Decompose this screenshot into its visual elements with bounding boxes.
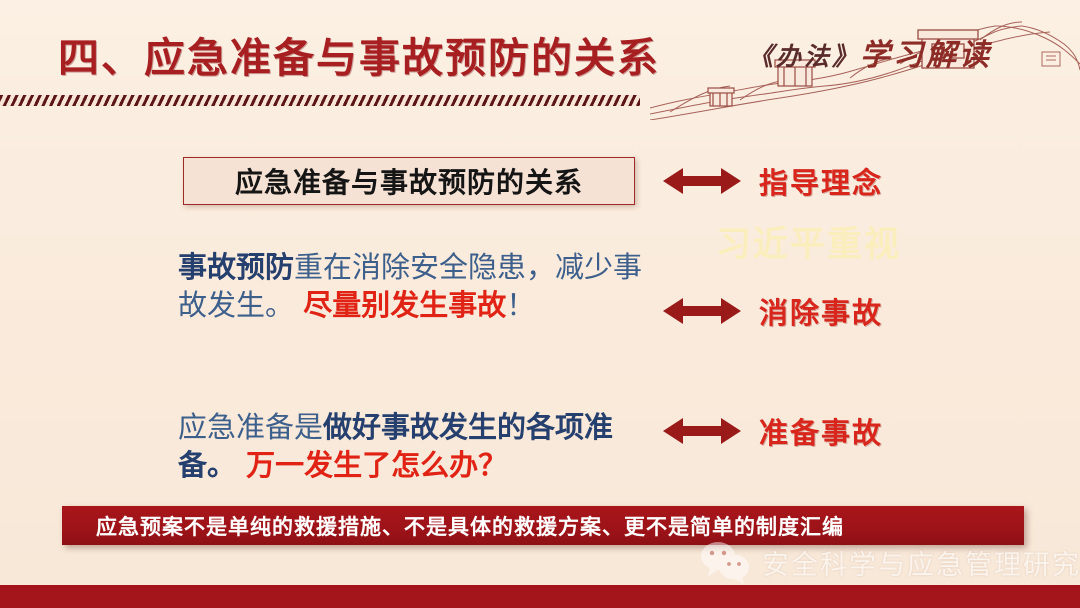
faint-watermark: 习近平重视 bbox=[716, 216, 901, 267]
para3-seg1: 做好事故发生的各项 bbox=[323, 410, 584, 444]
double-arrow-icon bbox=[663, 415, 741, 447]
slide-canvas: 四、应急准备与事故预防的关系 bbox=[0, 0, 1080, 608]
para2-seg3: 尽量别发生事故 bbox=[303, 288, 506, 322]
wechat-watermark: 安全科学与应急管理研究 bbox=[700, 540, 1080, 584]
para2-seg1: 重在消除安全隐患，减 bbox=[294, 250, 584, 284]
wechat-icon bbox=[700, 540, 752, 584]
series-stamp-text: 学习解读 bbox=[860, 38, 992, 73]
para3-seg0: 应急准备是 bbox=[178, 410, 323, 444]
bottom-banner-text: 应急预案不是单纯的救援措施、不是具体的救援方案、更不是简单的制度汇编 bbox=[96, 511, 844, 541]
concept-box: 应急准备与事故预防的关系 bbox=[183, 157, 635, 205]
para3-seg3: 万一发生了怎么办？ bbox=[246, 448, 507, 482]
hatch-divider bbox=[0, 95, 640, 106]
series-stamp-book: 《办法》 bbox=[748, 42, 860, 71]
double-arrow-icon bbox=[663, 295, 741, 327]
series-stamp: 《办法》学习解读 bbox=[748, 30, 992, 74]
bottom-bar bbox=[0, 585, 1080, 608]
row-preparation-right-label: 准备事故 bbox=[759, 410, 883, 452]
row-prevention-arrow-group: 消除事故 bbox=[663, 290, 883, 332]
row-concept-arrow-group: 指导理念 bbox=[663, 160, 883, 202]
double-arrow-icon bbox=[663, 165, 741, 197]
paragraph-preparation: 应急准备是做好事故发生的各项准备。 万一发生了怎么办？ bbox=[178, 408, 648, 485]
row-concept-right-label: 指导理念 bbox=[759, 160, 883, 202]
page-title: 四、应急准备与事故预防的关系 bbox=[58, 24, 660, 84]
paragraph-prevention: 事故预防重在消除安全隐患，减少事故发生。 尽量别发生事故！ bbox=[178, 248, 648, 325]
wechat-watermark-text: 安全科学与应急管理研究 bbox=[762, 543, 1080, 582]
para2-seg0: 事故预防 bbox=[178, 250, 294, 284]
row-preparation-arrow-group: 准备事故 bbox=[663, 410, 883, 452]
slide-header: 四、应急准备与事故预防的关系 bbox=[0, 0, 1080, 112]
para2-seg4: ！ bbox=[506, 288, 535, 322]
concept-box-label: 应急准备与事故预防的关系 bbox=[235, 161, 583, 201]
row-prevention-right-label: 消除事故 bbox=[759, 290, 883, 332]
